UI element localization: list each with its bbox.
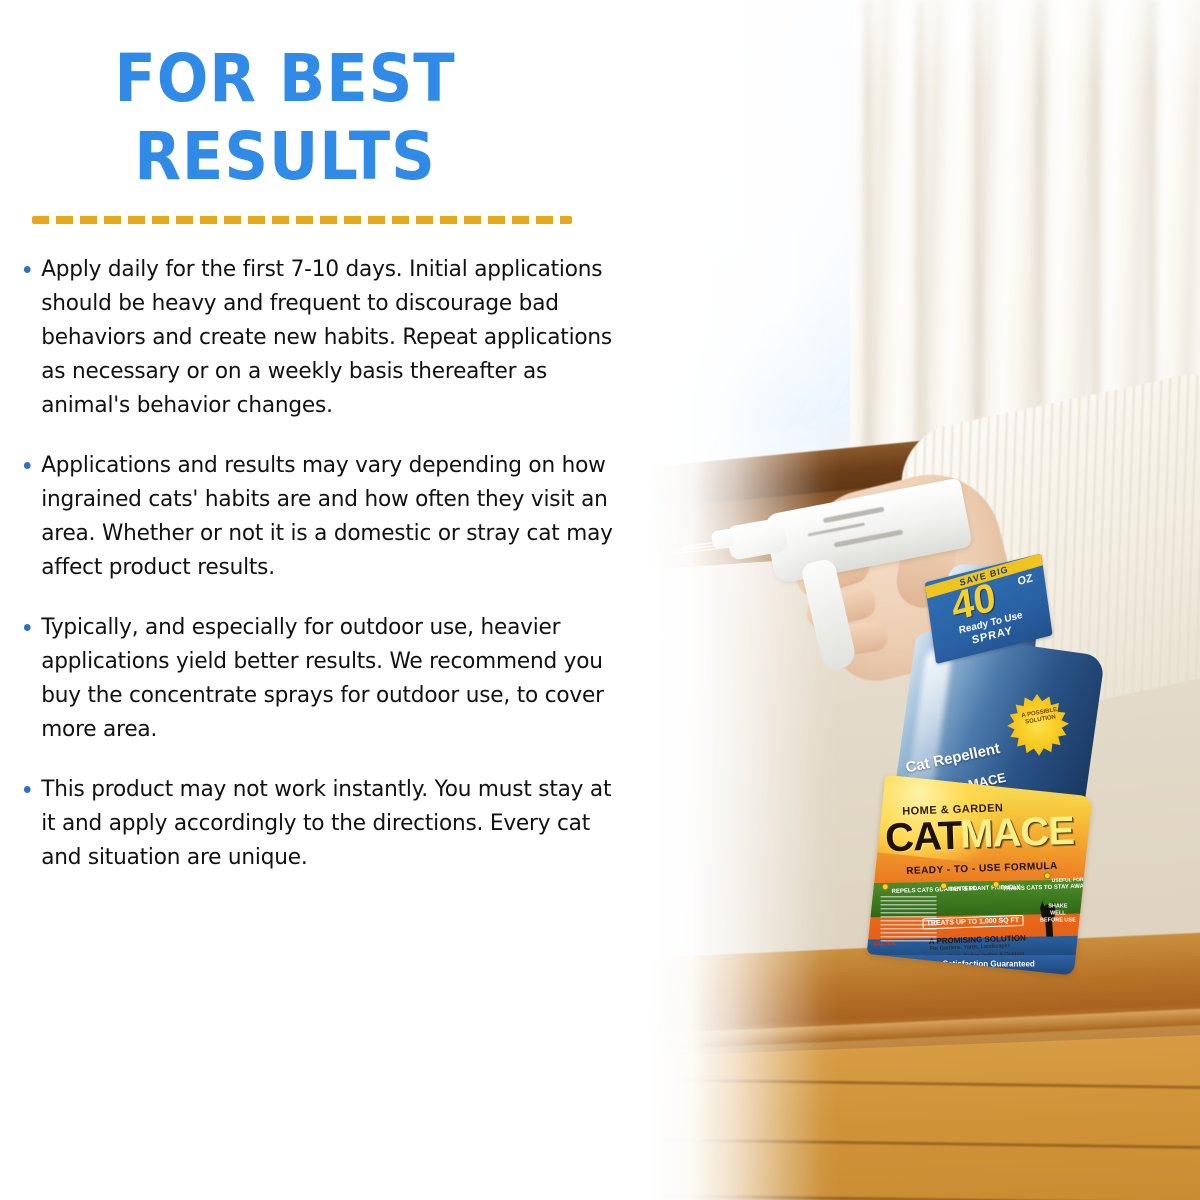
bullet-list: Apply daily for the first 7-10 days. Ini… [22,252,642,874]
list-item: Applications and results may vary depend… [22,448,617,584]
label-formula-text: READY - TO - USE FORMULA [906,861,1058,877]
label-shake-notice: SHAKE WELL BEFORE USE [1040,904,1076,925]
page-title-line-2: RESULTS [23,118,547,196]
bottle-main-label: HOME & GARDEN CAT MACE READY - TO - USE … [867,775,1093,976]
product-photo: SAVE BIG 40 OZ Ready To Use SPRAY Cat Re… [600,0,1200,1200]
sprayer-vent-slot [834,529,904,547]
label-caution-text: CAUTION [874,942,897,948]
list-item: Typically, and especially for outdoor us… [22,610,617,746]
list-item: This product may not work instantly. You… [22,772,617,874]
label-guarantee: Satisfaction Guaranteed [943,960,1035,969]
list-item: Apply daily for the first 7-10 days. Ini… [22,252,617,422]
page-title-line-1: FOR BEST [114,40,455,117]
label-coverage-text: TREATS UP TO 1,000 SQ FT [922,915,1023,930]
dashed-divider [32,216,572,224]
label-product-word-mace: MACE [959,809,1074,858]
feature-bullet-dot [1043,872,1051,880]
instructions-panel: FOR BEST RESULTS Apply daily for the fir… [0,0,640,1200]
promo-size-unit: OZ [1017,572,1034,588]
label-directions-block [881,896,937,942]
room-scene: SAVE BIG 40 OZ Ready To Use SPRAY Cat Re… [600,0,1200,1200]
page-title: FOR BEST RESULTS [23,40,547,196]
infographic-card: SAVE BIG 40 OZ Ready To Use SPRAY Cat Re… [0,0,1200,1200]
label-product-word-cat: CAT [884,814,962,862]
